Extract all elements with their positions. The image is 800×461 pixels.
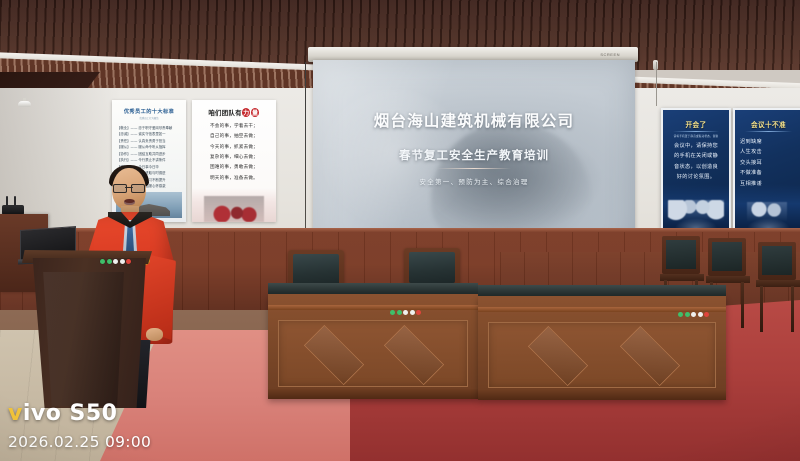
poster-line: 今天的事，抓紧去做； — [192, 143, 276, 153]
poster-header: 会议十不准 — [735, 119, 800, 129]
poster-header: 开会了 — [663, 119, 729, 129]
mouth — [124, 199, 135, 205]
table-base — [268, 389, 478, 399]
watermark-brand-accent: v — [8, 401, 23, 426]
slide-subtitle: 春节复工安全生产教育培训 — [313, 147, 635, 163]
screen-cord — [656, 62, 657, 106]
poster-header: 咱们团队有力量 — [192, 108, 276, 117]
side-chair — [756, 242, 800, 334]
poster-meeting-notice: 开会了 请将手机置于静音或振动状态，谢谢 会议中，请保持您 的手机在关闭或静 音… — [661, 108, 731, 230]
table-control-buttons[interactable] — [678, 312, 709, 317]
watermark-brand-text: ivo S50 — [23, 401, 118, 426]
poster-line: 交头接耳 — [735, 158, 800, 168]
poster-line: 好的讨论氛围。 — [663, 172, 729, 182]
hand — [146, 328, 163, 341]
poster-line: 不会的事，学着去干； — [192, 122, 276, 132]
screen-edge-line — [305, 62, 306, 248]
diamond-motif — [528, 326, 588, 386]
slide-company-name: 烟台海山建筑机械有限公司 — [313, 109, 635, 131]
glasses-icon — [113, 184, 145, 191]
conference-table-left — [268, 294, 478, 399]
slide-divider — [437, 168, 511, 169]
poster-meeting-rules: 会议十不准 迟到缺席 人生攻击 交头接耳 不做准备 互相推诿 — [733, 108, 800, 230]
table-surface — [268, 283, 478, 294]
poster-divider — [745, 131, 792, 132]
poster-subheader: 请将手机置于静音或振动状态，谢谢 — [663, 134, 729, 138]
poster-line: 复杂的事，细心去做； — [192, 153, 276, 163]
poster-line: 明天的事，准备去做。 — [192, 174, 276, 184]
table-front-panel — [278, 320, 468, 387]
poster-line: 的手机在关闭或静 — [663, 151, 729, 161]
arm — [142, 254, 176, 340]
poster-divider — [673, 131, 719, 132]
table-base — [478, 390, 726, 400]
poster-line: 会议中，请保持您 — [663, 141, 729, 151]
poster-line: 音状态，以创造良 — [663, 162, 729, 172]
poster-subheader: 优秀员工行为规范 — [112, 116, 186, 120]
poster-line: 人生攻击 — [735, 147, 800, 157]
poster-illustration — [663, 184, 729, 228]
slide-motto: 安全第一、预防为主、综合治理 — [313, 176, 635, 186]
security-camera-icon — [18, 98, 31, 107]
casing-label: SCREEN — [600, 52, 620, 57]
diamond-motif — [384, 324, 444, 384]
poster-header-badge: 量 — [251, 108, 259, 117]
poster-illustration — [192, 188, 276, 222]
poster-line: 困难的事，勇敢去做； — [192, 163, 276, 173]
watermark-timestamp: 2026.02.25 09:00 — [8, 433, 151, 451]
poster-header: 优秀员工的十大标准 — [112, 108, 186, 115]
photo-scene: 优秀员工的十大标准 优秀员工行为规范 【敬业】—— 忠于职守爱岗尽责奉献 【忠诚… — [0, 0, 800, 461]
diamond-motif — [620, 326, 680, 386]
poster-header-badge: 力 — [242, 108, 250, 117]
table-front-panel — [488, 322, 716, 388]
table-surface — [478, 285, 726, 296]
conference-table-right — [478, 296, 726, 400]
podium-front — [38, 272, 124, 406]
podium-control-buttons[interactable] — [100, 259, 131, 264]
poster-illustration — [735, 184, 800, 228]
table-control-buttons[interactable] — [390, 310, 421, 315]
watermark-brand: vivo S50 — [8, 401, 117, 426]
diamond-motif — [304, 324, 364, 384]
poster-header-text: 咱们团队有 — [208, 109, 241, 117]
table-rail — [268, 305, 478, 310]
poster-line: 自己的事，抽空去做； — [192, 132, 276, 142]
poster-line: 迟到缺席 — [735, 137, 800, 147]
poster-team-strength: 咱们团队有力量 不会的事，学着去干； 自己的事，抽空去做； 今天的事，抓紧去做；… — [192, 100, 276, 222]
poster-line: 不做准备 — [735, 168, 800, 178]
